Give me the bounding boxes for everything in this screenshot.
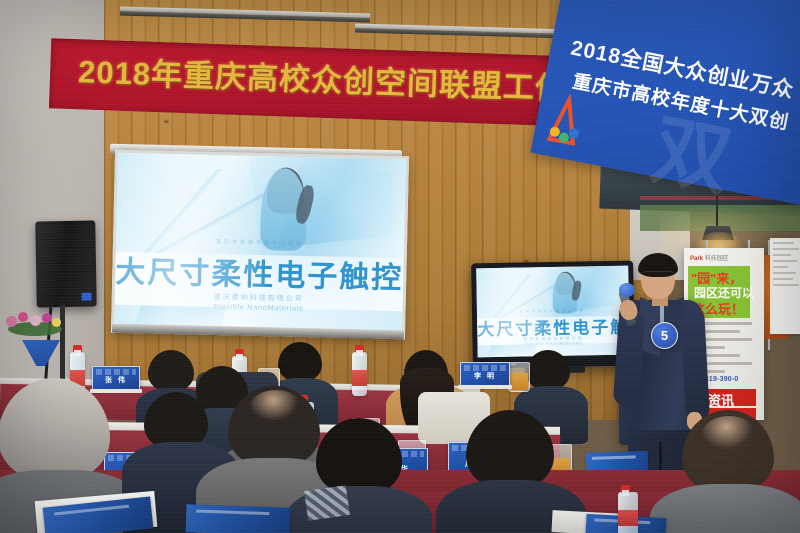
conference-room-photo: 2018年重庆高校众创空间联盟工作会议 双 2018全国大众创业万众 重庆市高校… <box>0 0 800 533</box>
name-card: 张 伟 <box>92 366 140 390</box>
white-info-board <box>770 238 800 334</box>
name-card: 李 明 <box>460 362 510 386</box>
double-innovation-logo-icon <box>539 90 602 151</box>
projection-screen: 重庆市高校年度十大双创 大尺寸柔性电子触控 重庆柔响科技有限公司 Flexibl… <box>111 150 409 340</box>
monitor-slide-content: 重庆市高校年度十大双创 大尺寸柔性电子触控 重庆柔响科技有限公司 Flexibl… <box>476 266 630 358</box>
water-bottle <box>618 492 638 533</box>
presenter-glasses-icon <box>643 271 673 279</box>
pa-speaker <box>35 220 96 307</box>
microphone-head-icon <box>619 283 635 297</box>
speaker-brand-badge <box>82 293 92 301</box>
poster-logo: Park 科技园区 <box>690 253 729 262</box>
presenter-number-badge: 5 <box>651 322 678 349</box>
slide-content: 重庆市高校年度十大双创 大尺寸柔性电子触控 重庆柔响科技有限公司 Flexibl… <box>114 153 406 336</box>
water-bottle <box>352 352 367 396</box>
red-banner-text: 2018年重庆高校众创空间联盟工作会议 <box>78 46 534 107</box>
monitor-panel: 重庆市高校年度十大双创 大尺寸柔性电子触控 重庆柔响科技有限公司 Flexibl… <box>476 266 630 358</box>
blue-brochure <box>186 504 291 533</box>
